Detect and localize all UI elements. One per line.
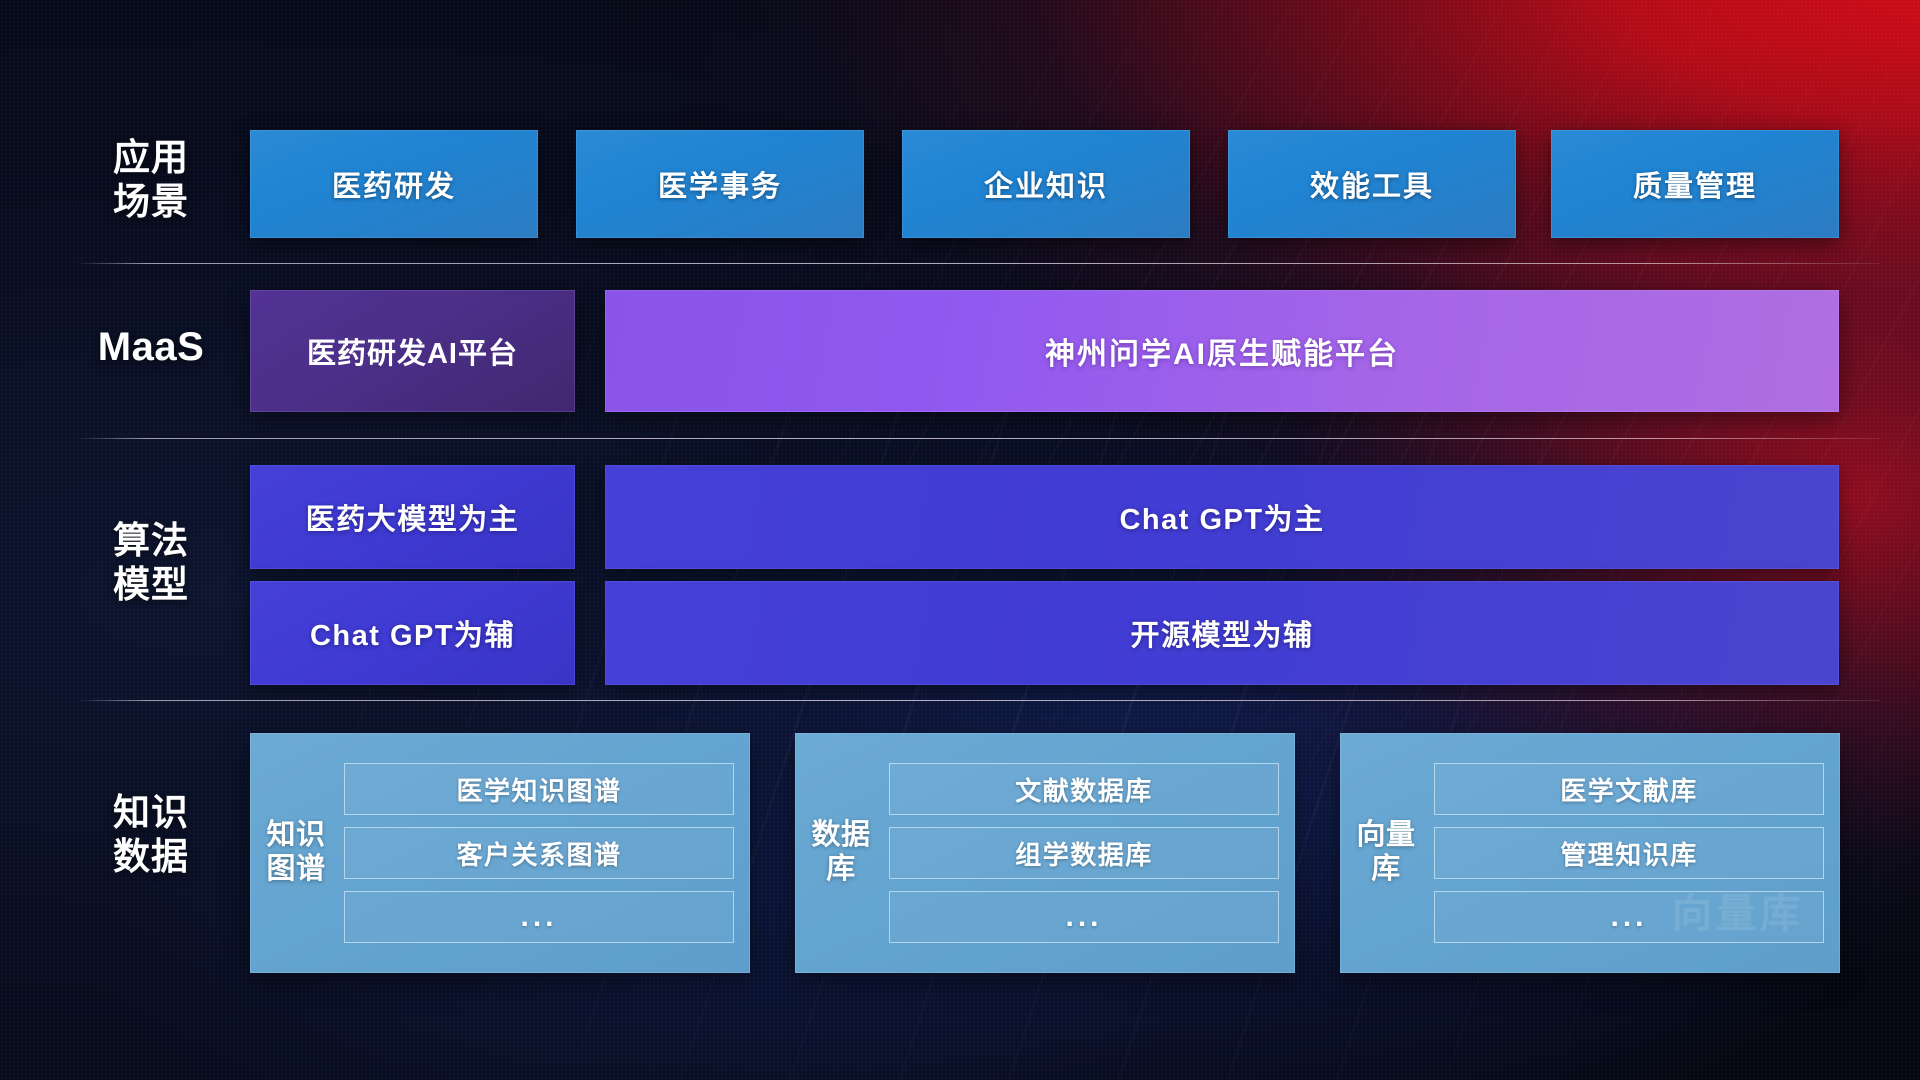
knowledge-item-label: 医学文献库 <box>1560 771 1698 808</box>
knowledge-item-label: ... <box>520 900 557 934</box>
app-tile-efficiency-tools[interactable]: 效能工具 <box>1228 130 1516 238</box>
knowledge-item-label: 组学数据库 <box>1015 835 1153 872</box>
row-label-algorithm-line2: 模型 <box>76 563 226 607</box>
app-tile-label: 效能工具 <box>1310 163 1434 205</box>
row-label-algorithm-line1: 算法 <box>76 519 226 563</box>
row-label-application-line1: 应用 <box>76 136 226 180</box>
knowledge-card-vector-store-label: 向量库 <box>1356 819 1416 886</box>
algo-box-label: Chat GPT为主 <box>1119 496 1324 538</box>
maas-left-label: 医药研发AI平台 <box>307 330 518 372</box>
row-label-maas-text: MaaS <box>76 324 226 371</box>
row-label-application-line2: 场景 <box>76 180 226 224</box>
knowledge-item-label: 文献数据库 <box>1015 771 1153 808</box>
knowledge-card-database[interactable]: 数据库 文献数据库 组学数据库 ... <box>795 733 1295 973</box>
divider-application-maas <box>76 263 1880 264</box>
knowledge-card-vector-store-items: 医学文献库 管理知识库 ... <box>1434 763 1824 943</box>
knowledge-item-management-kb[interactable]: 管理知识库 <box>1434 827 1824 879</box>
row-label-algorithm: 算法 模型 <box>76 519 226 606</box>
maas-right-label: 神州问学AI原生赋能平台 <box>1045 329 1399 373</box>
row-algorithm-model: 算法 模型 医药大模型为主 Chat GPT为主 Chat GPT为辅 开源模型… <box>0 465 1920 685</box>
knowledge-item-label: 管理知识库 <box>1560 835 1698 872</box>
row-label-maas: MaaS <box>76 324 226 371</box>
knowledge-item-label: ... <box>1065 900 1102 934</box>
knowledge-item-more-db[interactable]: ... <box>889 891 1279 943</box>
app-tile-medical-affairs[interactable]: 医学事务 <box>576 130 864 238</box>
row-label-knowledge-line2: 数据 <box>76 835 226 879</box>
algo-box-label: 医药大模型为主 <box>306 496 520 538</box>
knowledge-item-literature-db[interactable]: 文献数据库 <box>889 763 1279 815</box>
knowledge-card-vector-store[interactable]: 向量库 医学文献库 管理知识库 ... 向量库 <box>1340 733 1840 973</box>
knowledge-item-label: ... <box>1610 900 1647 934</box>
knowledge-item-medical-literature[interactable]: 医学文献库 <box>1434 763 1824 815</box>
algo-box-label: 开源模型为辅 <box>1130 612 1313 654</box>
knowledge-card-database-items: 文献数据库 组学数据库 ... <box>889 763 1279 943</box>
app-tile-label: 医药研发 <box>332 163 456 205</box>
row-label-knowledge: 知识 数据 <box>76 791 226 878</box>
app-tile-quality-management[interactable]: 质量管理 <box>1551 130 1839 238</box>
maas-box-shenzhou-wenxue-platform[interactable]: 神州问学AI原生赋能平台 <box>605 290 1839 412</box>
row-knowledge-data: 知识 数据 知识图谱 医学知识图谱 客户关系图谱 ... 数据库 文献数据库 组… <box>0 733 1920 973</box>
app-tile-label: 企业知识 <box>984 163 1108 205</box>
divider-algorithm-knowledge <box>76 700 1880 701</box>
algo-box-chatgpt-primary[interactable]: Chat GPT为主 <box>605 465 1839 569</box>
knowledge-item-omics-db[interactable]: 组学数据库 <box>889 827 1279 879</box>
knowledge-item-customer-graph[interactable]: 客户关系图谱 <box>344 827 734 879</box>
knowledge-item-label: 客户关系图谱 <box>456 835 621 872</box>
row-label-knowledge-line1: 知识 <box>76 791 226 835</box>
knowledge-card-graph-label: 知识图谱 <box>266 819 326 886</box>
diagram-canvas: 应用 场景 医药研发 医学事务 企业知识 效能工具 质量管理 MaaS 医药研发… <box>0 0 1920 1080</box>
knowledge-item-label: 医学知识图谱 <box>456 771 621 808</box>
maas-box-drug-rd-ai-platform[interactable]: 医药研发AI平台 <box>250 290 575 412</box>
algo-box-drug-large-model-primary[interactable]: 医药大模型为主 <box>250 465 575 569</box>
knowledge-item-more-graph[interactable]: ... <box>344 891 734 943</box>
knowledge-card-database-label: 数据库 <box>811 819 871 886</box>
app-tile-drug-rd[interactable]: 医药研发 <box>250 130 538 238</box>
divider-maas-algorithm <box>76 438 1880 439</box>
row-maas: MaaS 医药研发AI平台 神州问学AI原生赋能平台 <box>0 290 1920 412</box>
app-tile-label: 医学事务 <box>658 163 782 205</box>
algo-box-label: Chat GPT为辅 <box>310 612 515 654</box>
algo-box-opensource-secondary[interactable]: 开源模型为辅 <box>605 581 1839 685</box>
knowledge-card-graph-items: 医学知识图谱 客户关系图谱 ... <box>344 763 734 943</box>
row-application-scenarios: 应用 场景 医药研发 医学事务 企业知识 效能工具 质量管理 <box>0 130 1920 238</box>
knowledge-item-more-vector[interactable]: ... <box>1434 891 1824 943</box>
app-tile-label: 质量管理 <box>1633 163 1757 205</box>
row-label-application: 应用 场景 <box>76 136 226 223</box>
app-tile-enterprise-knowledge[interactable]: 企业知识 <box>902 130 1190 238</box>
knowledge-item-medical-graph[interactable]: 医学知识图谱 <box>344 763 734 815</box>
knowledge-card-graph[interactable]: 知识图谱 医学知识图谱 客户关系图谱 ... <box>250 733 750 973</box>
algo-box-chatgpt-secondary[interactable]: Chat GPT为辅 <box>250 581 575 685</box>
